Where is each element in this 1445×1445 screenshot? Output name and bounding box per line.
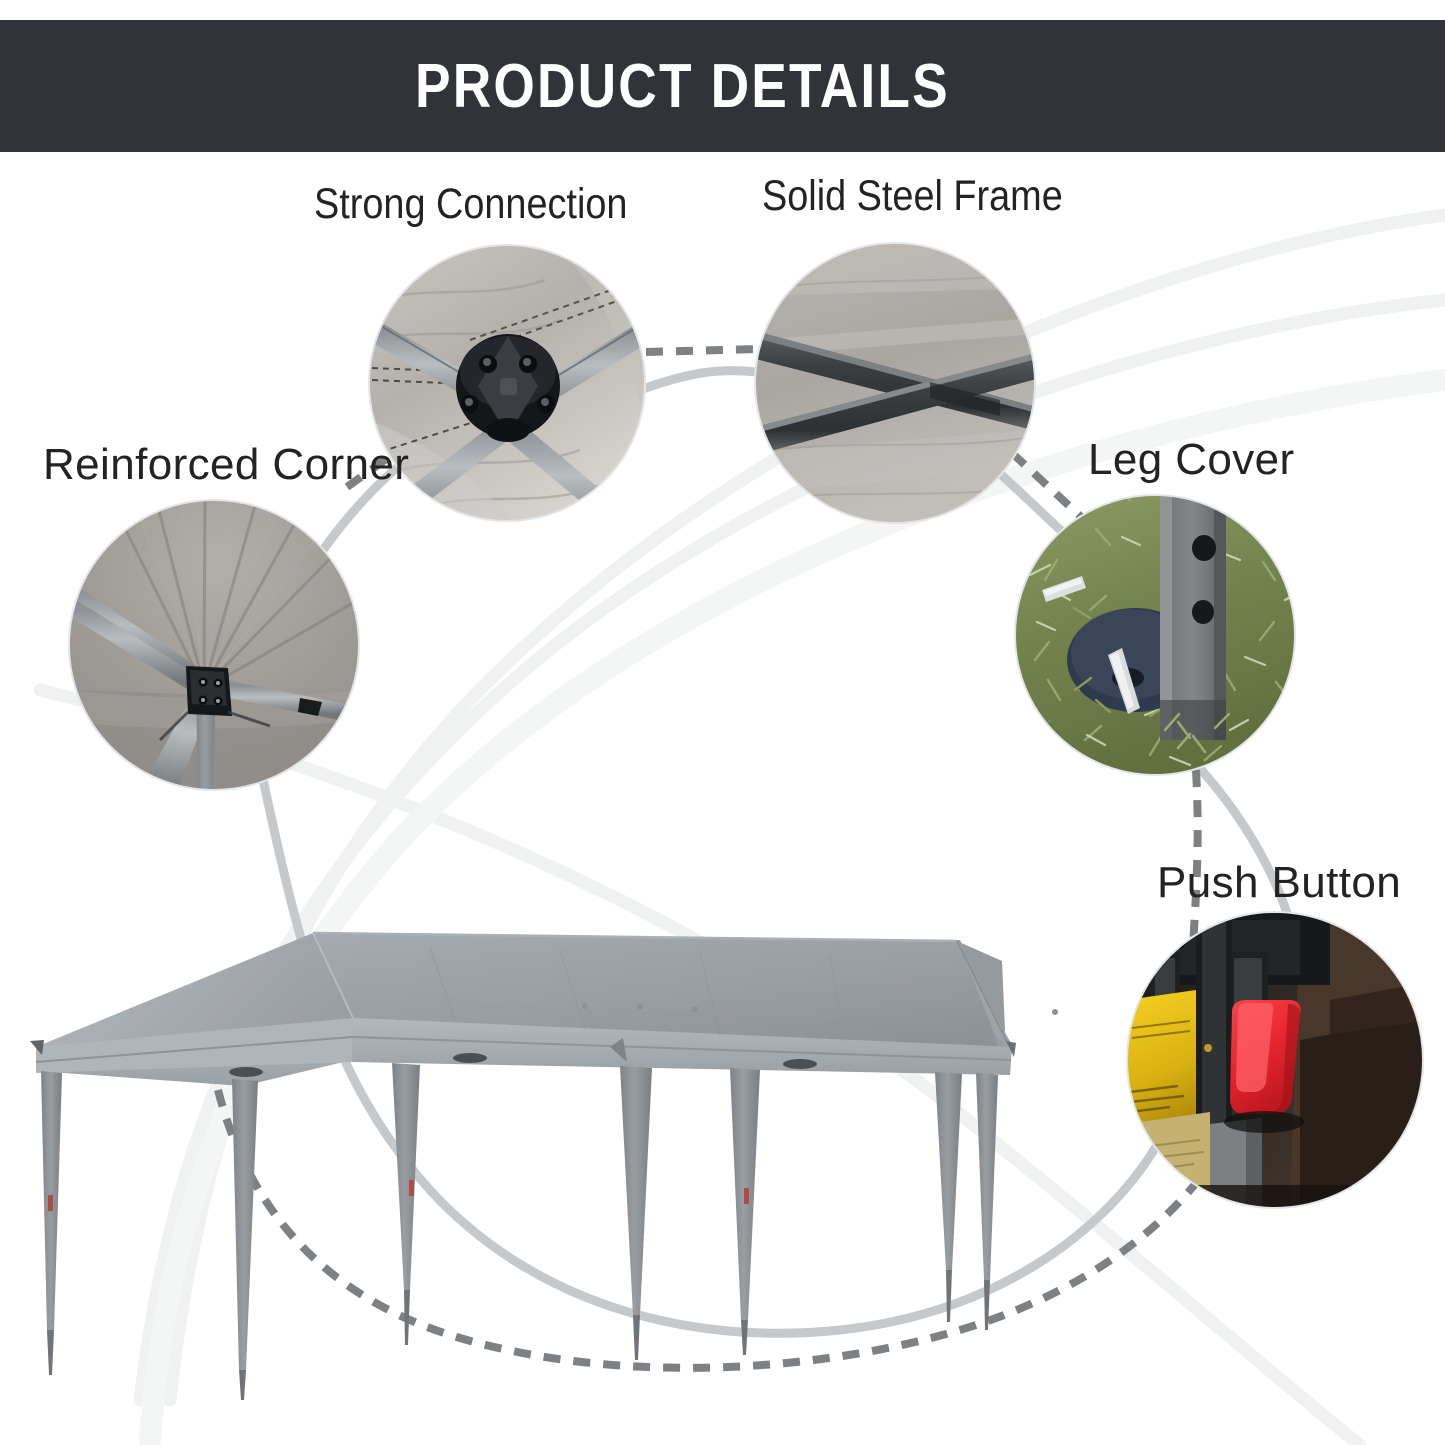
canopy-leg-4 [620, 1066, 652, 1315]
canopy-leg-6 [935, 1072, 962, 1270]
leg-pin-hole-bottom [1192, 600, 1214, 624]
callout-label-solid-steel-frame: Solid Steel Frame [762, 172, 1063, 221]
connector-sc-to-ssf [640, 371, 757, 390]
canopy-leg-5b [741, 1320, 748, 1355]
callout-label-strong-connection: Strong Connection [314, 180, 627, 229]
canopy-leg-1b [47, 1330, 54, 1375]
callout-label-reinforced-corner: Reinforced Corner [43, 440, 409, 490]
callout-image-reinforced-corner [69, 492, 359, 792]
product-detail-scene [0, 0, 1445, 1445]
callout-label-push-button: Push Button [1157, 858, 1401, 908]
canopy-leg-6b [946, 1270, 952, 1322]
canopy-leg-7 [976, 1073, 998, 1280]
canopy-leg-2b [239, 1370, 246, 1400]
infographic-canvas: PRODUCT DETAILS [0, 0, 1445, 1445]
callout-label-leg-cover: Leg Cover [1088, 435, 1295, 485]
canopy-leg-2 [232, 1079, 258, 1370]
dash-sc-to-ssf [646, 349, 760, 352]
canopy-leg-4b [633, 1315, 640, 1360]
leg-pin-hole-top [1192, 535, 1216, 561]
